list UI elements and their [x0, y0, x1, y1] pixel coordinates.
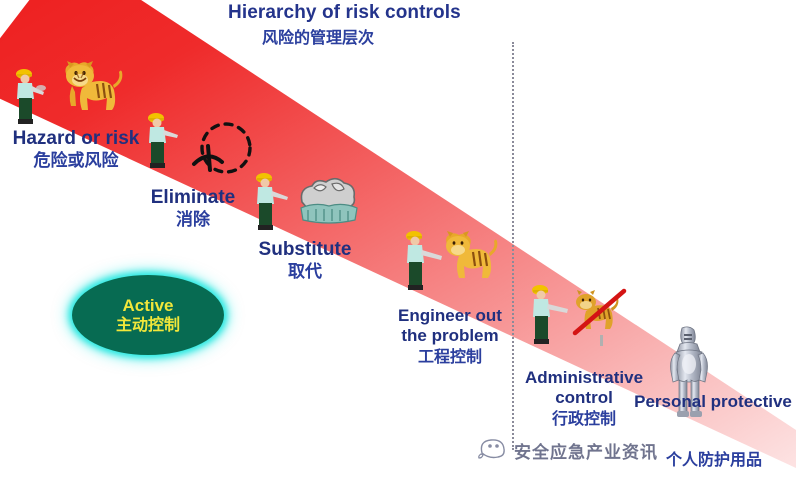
page-title-cn: 风险的管理层次 — [262, 24, 374, 48]
step-engineer-cn: 工程控制 — [388, 346, 512, 368]
tiger-icon — [50, 56, 126, 123]
boulder-icon — [296, 168, 362, 231]
step-eliminate-cn: 消除 — [128, 209, 258, 232]
watermark-text: 安全应急产业资讯 — [514, 438, 658, 463]
worker-figure-icon — [8, 66, 48, 133]
worker-figure-icon — [248, 170, 292, 241]
step-label-engineer: Engineer out the problem 工程控制 — [388, 306, 512, 368]
tiger-prohibited-icon — [572, 286, 634, 353]
worker-figure-icon — [140, 110, 182, 177]
section-divider — [512, 42, 514, 450]
step-label-ppe-cn: 个人防护用品 — [634, 450, 794, 470]
step-substitute-en: Substitute — [230, 238, 380, 261]
step-label-eliminate: Eliminate 消除 — [128, 186, 258, 232]
step-label-substitute: Substitute 取代 — [230, 238, 380, 284]
step-ppe-cn: 个人防护用品 — [634, 450, 794, 470]
step-hazard-en: Hazard or risk — [6, 128, 146, 150]
active-control-callout: Active 主动控制 — [72, 275, 224, 355]
step-administrative-en-line1: Administrative — [516, 368, 652, 388]
step-label-ppe: Personal protective — [630, 392, 796, 412]
step-label-hazard: Hazard or risk 危险或风险 — [6, 128, 146, 172]
tiger-icon — [440, 228, 510, 295]
watermark: 安全应急产业资讯 — [478, 437, 658, 464]
active-callout-en: Active — [122, 296, 173, 315]
step-engineer-en-line1: Engineer out — [388, 306, 512, 326]
active-callout-cn: 主动控制 — [116, 315, 180, 335]
step-substitute-cn: 取代 — [230, 261, 380, 284]
worker-figure-icon — [398, 228, 446, 303]
worker-figure-icon — [524, 282, 572, 357]
step-hazard-cn: 危险或风险 — [6, 150, 146, 172]
ghost-icon — [478, 437, 508, 464]
step-engineer-en-line2: the problem — [388, 326, 512, 346]
diagram-canvas: Hierarchy of risk controls 风险的管理层次 — [0, 0, 796, 484]
step-eliminate-en: Eliminate — [128, 186, 258, 209]
step-ppe-en: Personal protective — [630, 392, 796, 412]
page-title-en: Hierarchy of risk controls — [228, 2, 461, 24]
